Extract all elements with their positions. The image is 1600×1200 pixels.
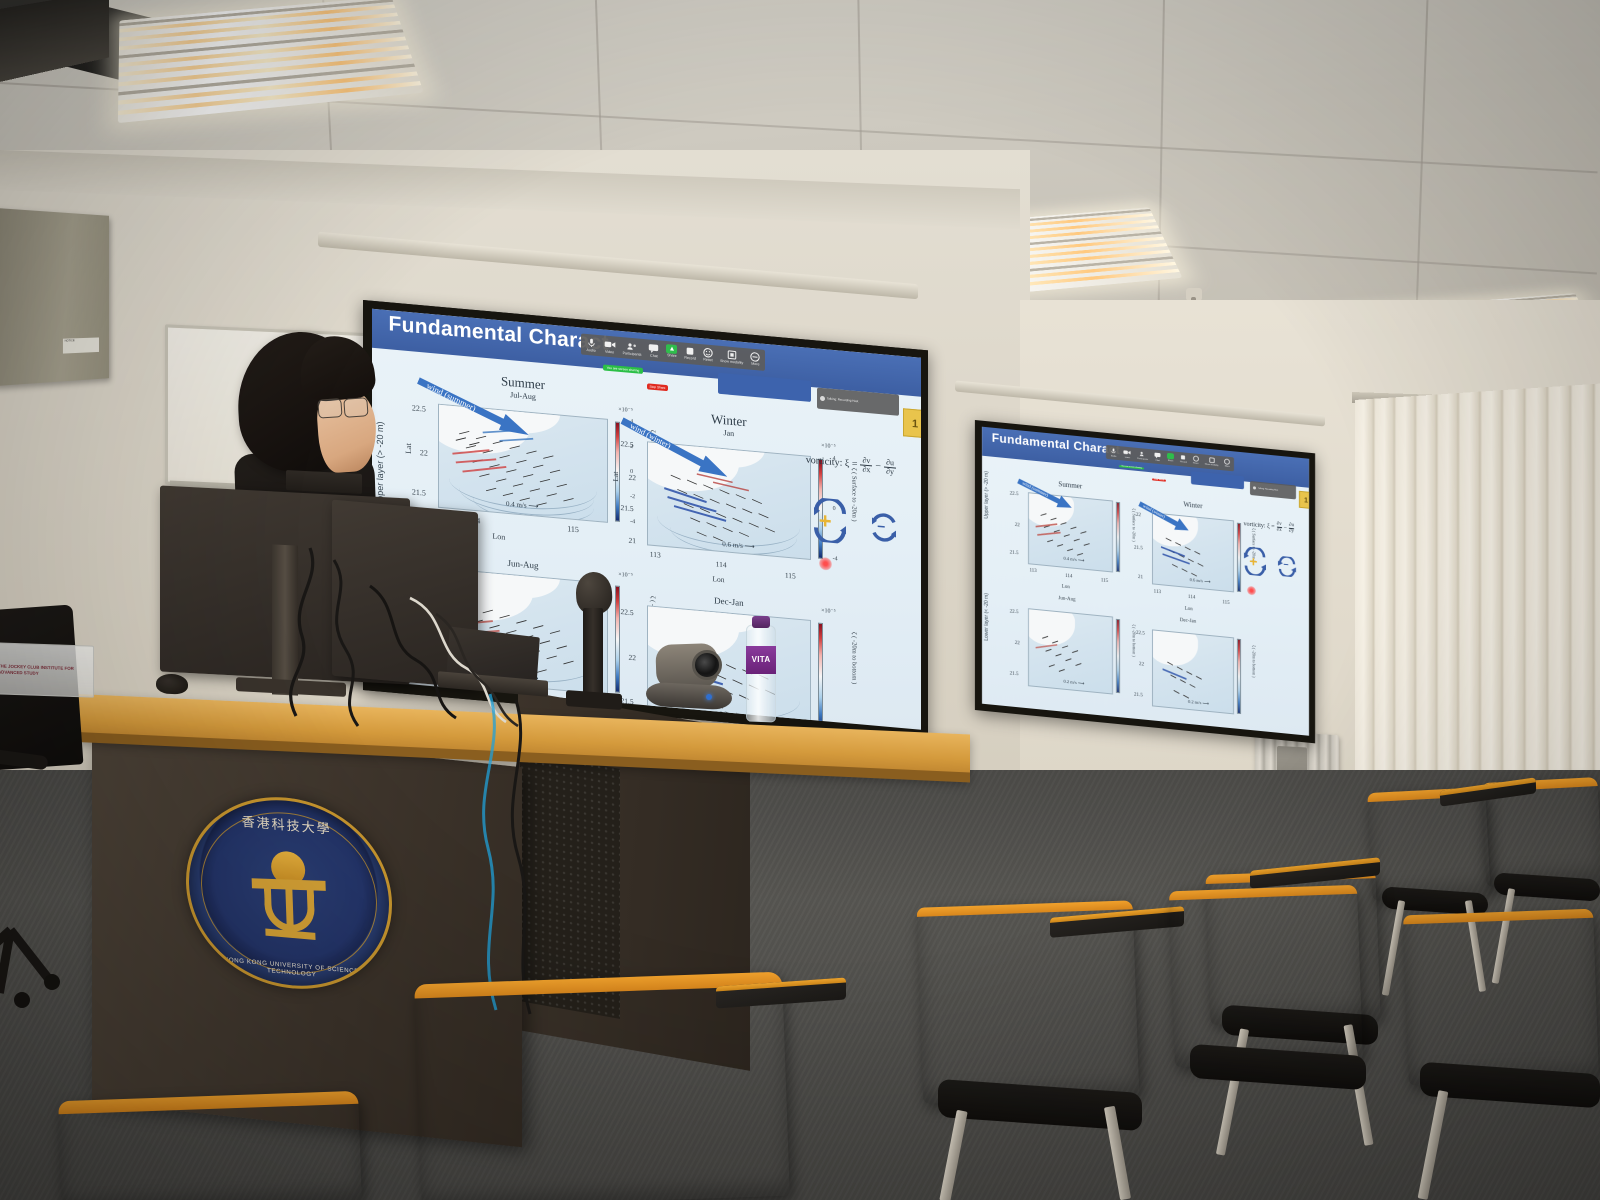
bottle-brand-text: VITA (746, 655, 776, 664)
zoom-more-button[interactable]: More (748, 350, 762, 368)
positive-vorticity-icon: + (1240, 546, 1270, 577)
bottle-cap (752, 616, 770, 628)
panel-summer-lower: 22.5 22 21.5 0.2 m/s ⟶ ζ ( -20m to botto… (1028, 608, 1113, 694)
zoom-share-screen-button[interactable]: Share (1165, 451, 1176, 463)
panel-months-label: Jul-Aug (510, 390, 536, 401)
microphone-icon (586, 336, 597, 348)
zoom-show-modality-button[interactable]: Show modality (718, 347, 745, 366)
panel-season-label: Summer (501, 374, 545, 394)
panel-winter-upper: Winter (1152, 513, 1234, 593)
negative-vorticity-icon: − (866, 509, 902, 546)
zoom-participants-button[interactable]: Participants (1135, 448, 1150, 462)
zoom-show-modality-button[interactable]: Show modality (1203, 455, 1221, 468)
zoom-video-button[interactable]: Video (1121, 447, 1133, 460)
panel-months-label: Dec-Jan (714, 595, 743, 608)
share-screen-icon (1167, 452, 1174, 459)
wall-equipment-cabinet: NOTICE (0, 208, 109, 386)
chair[interactable] (1367, 787, 1490, 901)
zoom-reactions-button[interactable]: React (1191, 454, 1201, 466)
panel-winter-upper: Winter Jan (647, 441, 812, 560)
participant-name: Talking: Recording Host (827, 397, 859, 404)
zoom-share-screen-button[interactable]: Share (664, 342, 679, 359)
panel-months-label: Jan (724, 428, 735, 438)
camera-lens (692, 650, 722, 680)
projection-screen-right: Fundamental Charact Upper layer (> -20 m… (975, 420, 1315, 743)
cabinet-label: NOTICE (63, 337, 99, 353)
share-screen-icon (666, 344, 677, 354)
video-camera-icon (1123, 448, 1131, 456)
colorbar (615, 586, 620, 694)
zoom-audio-button[interactable]: Audio (1108, 446, 1119, 459)
vorticity-label: vorticity: ξ = (806, 455, 858, 471)
sticky-note[interactable]: 1 (903, 408, 921, 438)
colorbar (1237, 639, 1241, 714)
avatar (1253, 486, 1256, 489)
zoom-reactions-button[interactable]: React (701, 346, 715, 364)
panel-season-label: Winter (711, 411, 747, 430)
stop-share-button[interactable]: Stop Share (1152, 478, 1166, 481)
minus-sign: − (877, 519, 885, 534)
sticky-note[interactable]: 1 (1299, 491, 1309, 509)
colorbar-label: ζ ( -20m to bottom ) (851, 632, 858, 685)
hkust-emblem (247, 847, 332, 941)
colorbar (818, 622, 823, 729)
more-icon (1224, 458, 1230, 465)
zoom-more-button[interactable]: More (1222, 457, 1232, 469)
plus-sign: + (819, 509, 832, 532)
zoom-audio-button[interactable]: Audio (584, 335, 599, 354)
ceiling-seam (1157, 0, 1165, 340)
laser-pointer-dot (819, 557, 832, 571)
negative-vorticity-icon: − (1276, 555, 1298, 577)
zoom-chat-button[interactable]: Chat (646, 341, 661, 360)
office-chair-base (0, 930, 72, 1000)
camera-status-led (706, 694, 712, 700)
colorbar (1116, 619, 1120, 694)
chat-icon (1154, 451, 1161, 459)
computer-mouse[interactable] (156, 673, 188, 694)
lecture-room-photo: NOTICE Fundamental Charact (0, 0, 1600, 1200)
participants-icon (626, 340, 638, 352)
participant-name: Talking: Recording Host (1258, 487, 1278, 491)
storage-box: THE JOCKEY CLUB INSTITUTE FOR ADVANCED S… (0, 642, 94, 697)
slide-side-label-upper: Upper layer (> -20 m) (984, 471, 990, 519)
zoom-participants-button[interactable]: Participants (621, 339, 644, 359)
chat-icon (648, 342, 659, 354)
stop-share-button[interactable]: Stop Share (647, 384, 669, 392)
panel-winter-lower: 22.5 22 21.5 0.2 m/s ⟶ ζ ( -20m to botto… (1152, 629, 1234, 715)
storage-box-label: THE JOCKEY CLUB INSTITUTE FOR ADVANCED S… (0, 663, 93, 677)
zoom-chat-button[interactable]: Chat (1152, 450, 1163, 463)
floor-cable (420, 690, 620, 1020)
zoom-record-button[interactable]: Record (682, 344, 698, 362)
participants-icon (1139, 450, 1147, 458)
show-modality-icon (727, 349, 737, 360)
more-icon (750, 351, 760, 362)
eyeglasses (317, 396, 366, 421)
chair[interactable] (1169, 885, 1363, 1067)
slide-side-label-upper: Upper layer (> -20 m) (375, 421, 385, 508)
soundbar (286, 470, 362, 494)
chair[interactable] (1403, 909, 1599, 1086)
zoom-record-button[interactable]: Record (1178, 452, 1189, 464)
microphone-icon (1110, 447, 1117, 455)
laser-pointer-dot (1247, 586, 1256, 596)
panel-summer-upper: Summer Jul-Aug (438, 404, 608, 523)
positive-vorticity-icon: + (806, 496, 854, 544)
record-icon (685, 345, 695, 356)
avatar (820, 396, 825, 401)
bottle-label: VITA (746, 646, 776, 674)
slide-title-text: Fundamental Charact (388, 313, 608, 357)
zoom-video-button[interactable]: Video (602, 337, 618, 356)
chair[interactable] (58, 1091, 362, 1200)
reactions-icon (1193, 455, 1199, 462)
show-modality-icon (1209, 456, 1215, 463)
presentation-slide-right: Fundamental Charact Upper layer (> -20 m… (982, 427, 1309, 736)
panel-summer-upper: Summer (1028, 492, 1113, 572)
slide-side-label-lower: Lower layer (< -20 m) (984, 593, 990, 641)
slide-title-text: Fundamental Charact (992, 431, 1120, 458)
colorbar (1116, 502, 1120, 572)
video-camera-icon (604, 338, 616, 350)
record-icon (1180, 454, 1186, 461)
reactions-icon (703, 347, 713, 358)
